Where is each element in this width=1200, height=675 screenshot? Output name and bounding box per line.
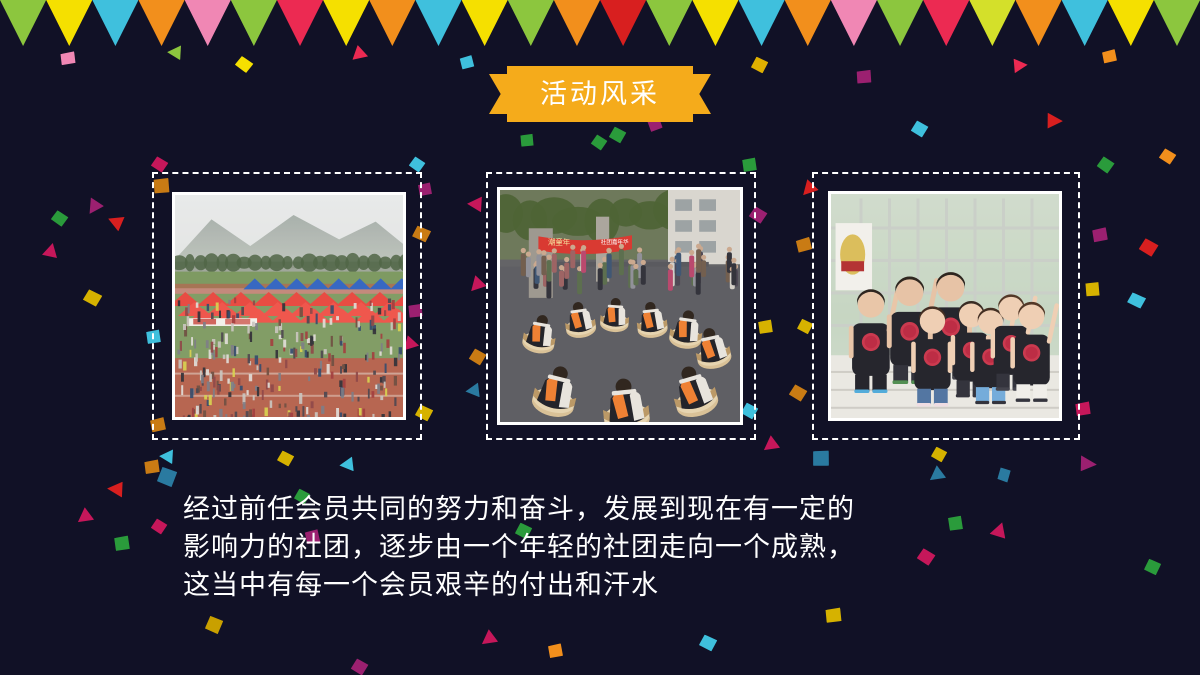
confetti-piece bbox=[468, 348, 487, 367]
confetti-piece bbox=[458, 54, 476, 72]
confetti-piece bbox=[788, 384, 808, 403]
confetti-piece bbox=[946, 514, 965, 533]
title-ribbon: 活动风采 bbox=[489, 66, 711, 122]
slide-canvas: 活动风采 潮童年 社团嘉年华 bbox=[0, 0, 1200, 675]
bunting-flag bbox=[46, 0, 92, 46]
photo-2[interactable]: 潮童年 社团嘉年华 bbox=[500, 190, 740, 422]
confetti-piece bbox=[74, 506, 94, 526]
bunting-flag bbox=[92, 0, 138, 46]
caption-text: 经过前任会员共同的努力和奋斗，发展到现在有一定的 影响力的社团，逐步由一个年轻的… bbox=[183, 490, 943, 604]
confetti-piece bbox=[811, 449, 832, 469]
confetti-piece bbox=[478, 628, 498, 648]
confetti-piece bbox=[756, 318, 775, 336]
bunting-flag bbox=[554, 0, 600, 46]
confetti-piece bbox=[997, 467, 1011, 483]
confetti-piece bbox=[156, 466, 177, 487]
bunting-flag bbox=[231, 0, 277, 46]
bunting-flag bbox=[646, 0, 692, 46]
bunting-flag bbox=[1015, 0, 1061, 46]
photo-3[interactable] bbox=[831, 194, 1059, 418]
bunting-flag bbox=[969, 0, 1015, 46]
confetti-piece bbox=[82, 289, 103, 308]
confetti-piece bbox=[106, 478, 127, 498]
confetti-piece bbox=[926, 464, 946, 484]
bunting-flag bbox=[1154, 0, 1200, 46]
confetti-piece bbox=[910, 120, 929, 139]
bunting-flag bbox=[831, 0, 877, 46]
confetti-piece bbox=[350, 658, 369, 675]
page-title: 活动风采 bbox=[540, 81, 660, 108]
confetti-piece bbox=[112, 534, 132, 553]
confetti-piece bbox=[519, 132, 536, 148]
confetti-piece bbox=[855, 68, 874, 85]
confetti-piece bbox=[82, 195, 104, 217]
confetti-piece bbox=[466, 193, 486, 213]
confetti-piece bbox=[339, 455, 356, 471]
confetti-piece bbox=[142, 458, 162, 476]
confetti-piece bbox=[546, 642, 565, 660]
confetti-piece bbox=[750, 56, 769, 74]
confetti-piece bbox=[1083, 280, 1101, 298]
confetti-piece bbox=[465, 381, 482, 397]
ribbon-body: 活动风采 bbox=[507, 66, 693, 122]
bunting-flag bbox=[739, 0, 785, 46]
bunting-flag bbox=[323, 0, 369, 46]
confetti-piece bbox=[204, 615, 223, 634]
confetti-piece bbox=[276, 450, 295, 467]
confetti-piece bbox=[50, 209, 69, 227]
bunting-flag bbox=[508, 0, 554, 46]
bunting-flag bbox=[277, 0, 323, 46]
confetti-piece bbox=[150, 518, 168, 536]
bunting-flag bbox=[1108, 0, 1154, 46]
confetti-piece bbox=[465, 273, 486, 294]
confetti-piece bbox=[590, 134, 608, 152]
confetti-piece bbox=[1096, 155, 1116, 174]
confetti-piece bbox=[150, 156, 169, 174]
confetti-piece bbox=[1090, 226, 1110, 245]
confetti-piece bbox=[608, 126, 627, 144]
confetti-piece bbox=[1043, 113, 1064, 133]
confetti-piece bbox=[1126, 292, 1146, 310]
confetti-piece bbox=[698, 634, 718, 652]
confetti-piece bbox=[1158, 148, 1177, 166]
bunting-flag bbox=[785, 0, 831, 46]
confetti-piece bbox=[349, 45, 370, 66]
bunting-flag bbox=[415, 0, 461, 46]
confetti-piece bbox=[42, 243, 57, 258]
confetti-piece bbox=[823, 606, 843, 625]
bunting-flag bbox=[692, 0, 738, 46]
bunting-flag bbox=[600, 0, 646, 46]
bunting-flag bbox=[369, 0, 415, 46]
bunting-flag bbox=[0, 0, 46, 46]
confetti-piece bbox=[106, 210, 128, 232]
photo-1[interactable] bbox=[175, 195, 403, 417]
confetti-piece bbox=[158, 446, 177, 464]
confetti-piece bbox=[408, 156, 426, 174]
bunting-flag bbox=[138, 0, 184, 46]
confetti-piece bbox=[1011, 59, 1029, 76]
confetti-piece bbox=[234, 55, 254, 74]
confetti-piece bbox=[58, 50, 77, 67]
bunting-flag bbox=[923, 0, 969, 46]
bunting-flag bbox=[462, 0, 508, 46]
confetti-piece bbox=[1076, 455, 1098, 475]
bunting-flag bbox=[877, 0, 923, 46]
confetti-piece bbox=[930, 446, 948, 463]
bunting-banner bbox=[0, 0, 1200, 46]
confetti-piece bbox=[1143, 558, 1161, 576]
confetti-piece bbox=[1138, 237, 1159, 257]
confetti-piece bbox=[760, 434, 780, 454]
bunting-flag bbox=[1062, 0, 1108, 46]
confetti-piece bbox=[1100, 48, 1119, 66]
bunting-flag bbox=[185, 0, 231, 46]
confetti-piece bbox=[989, 521, 1006, 538]
